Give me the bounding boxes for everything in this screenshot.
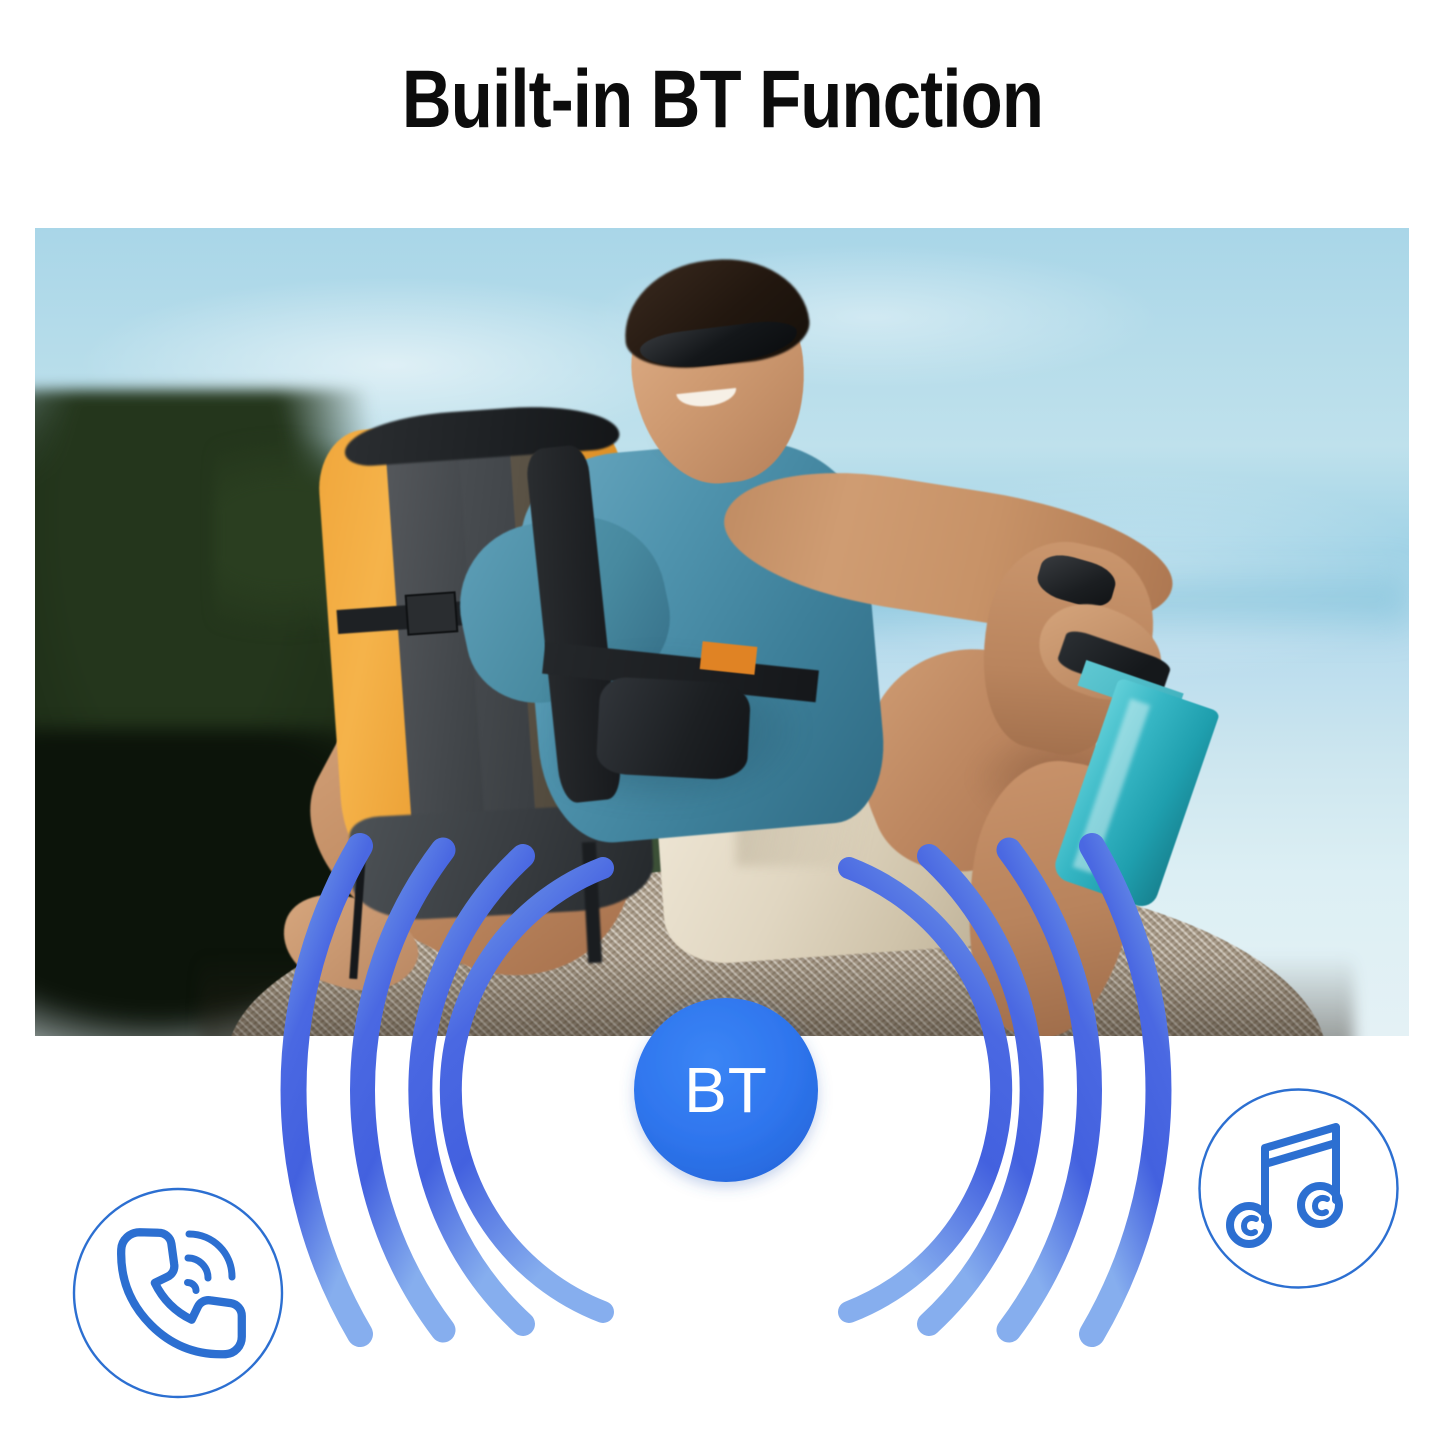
music-note-icon-glyph <box>1196 1086 1401 1291</box>
hiker-photo <box>35 228 1409 1036</box>
bt-badge-label: BT <box>684 1054 768 1126</box>
product-feature-banner: Built-in BT Function <box>0 0 1445 1445</box>
page-title: Built-in BT Function <box>116 52 1330 148</box>
backpack-buckle <box>405 591 458 636</box>
phone-call-icon-glyph <box>71 1186 285 1400</box>
hip-pouch <box>596 677 752 782</box>
strap-accent <box>700 641 758 675</box>
music-note-icon[interactable] <box>1196 1086 1401 1291</box>
phone-call-icon[interactable] <box>71 1186 285 1400</box>
